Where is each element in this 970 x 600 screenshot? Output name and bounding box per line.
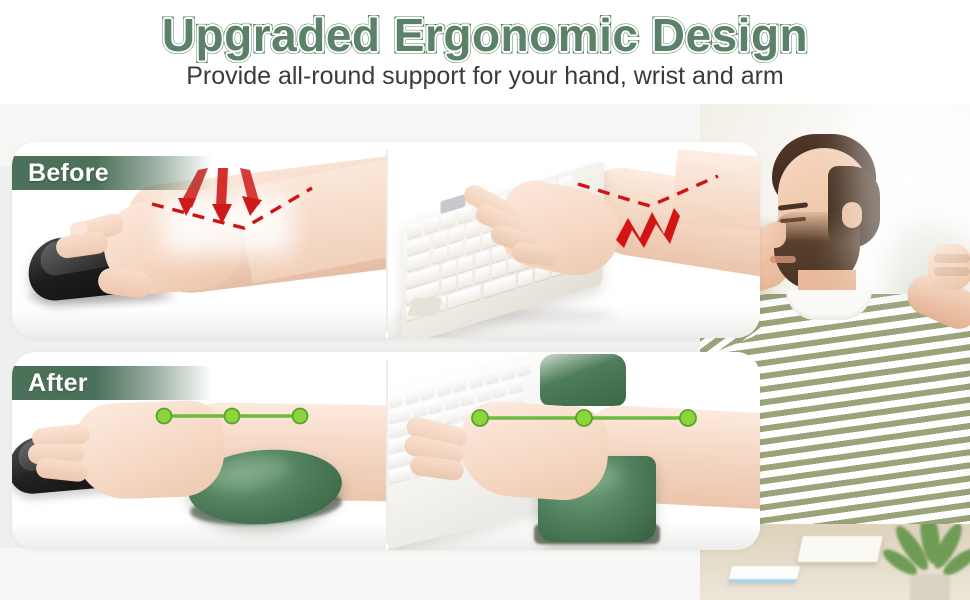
badge-after: After xyxy=(12,366,212,400)
panel-seam xyxy=(386,150,388,332)
page-subtitle: Provide all-round support for your hand,… xyxy=(0,62,970,91)
red-dashed-bend-line-icon xyxy=(578,176,718,206)
badge-before: Before xyxy=(12,156,212,190)
after-keyboard-alignment xyxy=(388,352,760,550)
photo-glow xyxy=(850,104,970,284)
badge-after-label: After xyxy=(12,369,88,398)
nose xyxy=(762,222,786,248)
badge-before-label: Before xyxy=(12,159,109,188)
green-alignment-dot-icon xyxy=(225,409,240,424)
panel-after: After xyxy=(12,352,760,550)
lips xyxy=(770,256,796,263)
product-feature-banner: Before xyxy=(0,0,970,600)
red-zigzag-pain-icon xyxy=(616,208,680,248)
before-keyboard-scene xyxy=(388,142,760,338)
panel-seam xyxy=(386,360,388,544)
after-keyboard-scene xyxy=(388,352,760,550)
before-keyboard-markers xyxy=(388,142,760,338)
green-alignment-dot-icon xyxy=(472,410,488,426)
green-alignment-dot-icon xyxy=(157,409,172,424)
red-dashed-bend-line-icon xyxy=(152,188,312,228)
page-title: Upgraded Ergonomic Design xyxy=(0,8,970,62)
panel-before: Before xyxy=(12,142,760,338)
green-alignment-dot-icon xyxy=(293,409,308,424)
header: Upgraded Ergonomic Design Upgraded Ergon… xyxy=(0,0,970,104)
green-alignment-dot-icon xyxy=(576,410,592,426)
green-alignment-dot-icon xyxy=(680,410,696,426)
